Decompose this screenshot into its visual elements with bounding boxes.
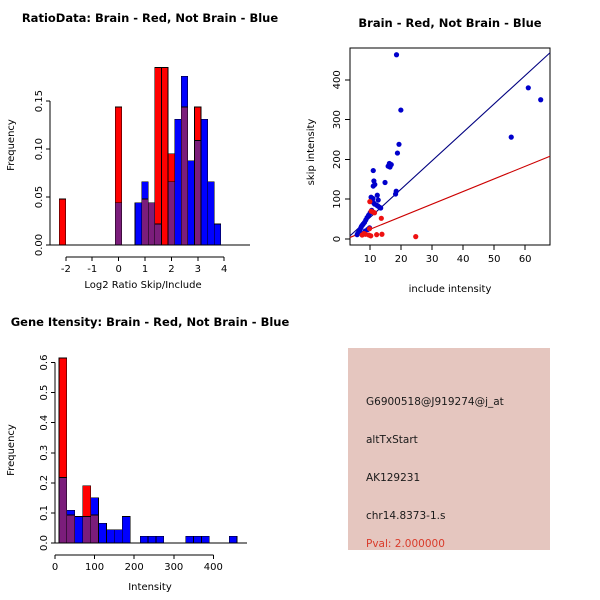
scatter-point	[395, 150, 400, 155]
intensity-scatter-ylabel: skip intensity	[306, 119, 317, 186]
gene-bar	[122, 517, 130, 543]
gene-bar	[75, 517, 83, 543]
info-probe-id: G6900518@J919274@j_at	[366, 396, 504, 408]
gene-bar	[186, 536, 194, 543]
gene-intensity-title: Gene Itensity: Brain - Red, Not Brain - …	[11, 315, 290, 329]
scatter-red-fit	[350, 156, 550, 237]
scatter-point	[382, 180, 387, 185]
gene-y-tick-label: 0.4	[39, 415, 50, 431]
info-accession: AK129231	[366, 472, 420, 484]
gene-x-tick-label: 300	[164, 562, 183, 573]
scatter-x-tick-label: 60	[519, 254, 532, 265]
ratio-bar-overlap	[181, 107, 188, 245]
scatter-point	[396, 142, 401, 147]
info-locus: chr14.8373-1.s	[366, 510, 445, 522]
scatter-point	[368, 233, 373, 238]
ratio-y-tick-label: 0.10	[34, 138, 45, 160]
scatter-point	[367, 199, 372, 204]
ratio-y-tick-label: 0.05	[34, 186, 45, 208]
scatter-y-tick-label: 100	[332, 190, 343, 209]
ratio-x-tick-label: 4	[221, 264, 227, 275]
scatter-point	[387, 164, 392, 169]
gene-bar	[201, 536, 209, 543]
scatter-plot-frame	[350, 48, 550, 245]
gene-bar	[106, 530, 114, 543]
scatter-y-tick-label: 300	[332, 110, 343, 129]
scatter-point	[375, 193, 380, 198]
info-pval: Pval: 2.000000	[366, 538, 445, 550]
scatter-point	[398, 107, 403, 112]
scatter-point	[371, 183, 376, 188]
gene-intensity-xlabel: Intensity	[128, 582, 172, 593]
scatter-point	[509, 135, 514, 140]
gene-bar	[229, 536, 237, 543]
scatter-x-tick-label: 50	[488, 254, 501, 265]
intensity-scatter-frame	[350, 48, 550, 245]
gene-bar-overlap	[67, 515, 75, 543]
ratio-bar	[201, 119, 208, 245]
scatter-y-tick-label: 200	[332, 150, 343, 169]
ratio-bar-overlap	[194, 140, 201, 245]
gene-bar-overlap	[83, 517, 91, 543]
ratio-y-tick-label: 0.15	[34, 90, 45, 112]
gene-intensity-panel: Gene Itensity: Brain - Red, Not Brain - …	[0, 300, 300, 600]
ratio-histogram-title: RatioData: Brain - Red, Not Brain - Blue	[22, 11, 279, 25]
ratio-bar	[175, 119, 182, 245]
scatter-point	[378, 205, 383, 210]
gene-y-tick-label: 0.2	[39, 475, 50, 491]
scatter-point	[379, 232, 384, 237]
gene-y-tick-label: 0.1	[39, 505, 50, 521]
gene-info-box: G6900518@J919274@j_at altTxStart AK12923…	[348, 348, 550, 550]
gene-bar-overlap	[91, 515, 99, 543]
ratio-bar	[208, 182, 215, 245]
scatter-x-tick-label: 30	[426, 254, 439, 265]
scatter-point	[361, 231, 366, 236]
ratio-x-tick-label: 0	[115, 264, 121, 275]
ratio-x-tick-label: -2	[61, 264, 71, 275]
gene-x-tick-label: 0	[52, 562, 58, 573]
ratio-bar-overlap	[155, 224, 162, 245]
gene-y-tick-label: 0.0	[39, 535, 50, 551]
gene-bar	[114, 530, 122, 543]
gene-bar	[148, 536, 156, 543]
ratio-histogram-xlabel: Log2 Ratio Skip/Include	[84, 280, 201, 291]
gene-x-tick-label: 100	[85, 562, 104, 573]
ratio-x-tick-label: -1	[87, 264, 97, 275]
scatter-point	[372, 210, 377, 215]
gene-bar	[140, 536, 148, 543]
gene-bar-overlap	[59, 477, 67, 543]
ratio-x-tick-label: 1	[142, 264, 148, 275]
scatter-point	[379, 216, 384, 221]
ratio-bar	[155, 68, 162, 245]
gene-x-tick-label: 400	[204, 562, 223, 573]
scatter-point	[538, 97, 543, 102]
gene-y-tick-label: 0.5	[39, 385, 50, 401]
ratio-x-tick-label: 3	[195, 264, 201, 275]
ratio-bar	[135, 203, 142, 245]
scatter-point	[376, 197, 381, 202]
scatter-point	[355, 232, 360, 237]
ratio-bar-overlap	[148, 203, 155, 245]
gene-bar	[99, 523, 107, 543]
gene-bar	[156, 536, 164, 543]
ratio-bar	[188, 161, 195, 245]
scatter-y-tick-label: 0	[332, 236, 343, 242]
ratio-bar	[214, 224, 221, 245]
ratio-histogram-svg: RatioData: Brain - Red, Not Brain - Blue…	[0, 0, 300, 300]
scatter-x-tick-label: 10	[364, 254, 377, 265]
scatter-y-tick-label: 400	[332, 70, 343, 89]
scatter-point	[413, 234, 418, 239]
intensity-scatter-panel: Brain - Red, Not Brain - Blue 0100200300…	[300, 0, 600, 300]
gene-y-tick-label: 0.6	[39, 355, 50, 371]
gene-bar	[194, 536, 202, 543]
gene-intensity-bars	[59, 358, 237, 543]
gene-intensity-ylabel: Frequency	[6, 424, 17, 476]
ratio-bar	[59, 199, 66, 245]
intensity-scatter-svg: Brain - Red, Not Brain - Blue 0100200300…	[300, 0, 600, 300]
gene-x-tick-label: 200	[125, 562, 144, 573]
ratio-bar-overlap	[142, 199, 149, 245]
ratio-bar-overlap	[168, 182, 175, 245]
scatter-x-tick-label: 40	[457, 254, 470, 265]
scatter-point	[367, 226, 372, 231]
intensity-scatter-xlabel: include intensity	[409, 284, 492, 295]
ratio-bar	[161, 68, 168, 245]
ratio-x-tick-label: 2	[168, 264, 174, 275]
scatter-point	[394, 52, 399, 57]
scatter-point	[374, 232, 379, 237]
gene-intensity-svg: Gene Itensity: Brain - Red, Not Brain - …	[0, 300, 300, 600]
gene-y-tick-label: 0.3	[39, 445, 50, 461]
ratio-y-tick-label: 0.00	[34, 234, 45, 256]
scatter-point	[371, 168, 376, 173]
ratio-histogram-ylabel: Frequency	[6, 119, 17, 171]
scatter-point	[526, 85, 531, 90]
scatter-x-tick-label: 20	[395, 254, 408, 265]
scatter-point	[393, 191, 398, 196]
intensity-scatter-title: Brain - Red, Not Brain - Blue	[358, 16, 541, 30]
ratio-histogram-bars	[59, 68, 221, 245]
ratio-histogram-panel: RatioData: Brain - Red, Not Brain - Blue…	[0, 0, 300, 300]
gene-info-panel: G6900518@J919274@j_at altTxStart AK12923…	[300, 300, 600, 600]
ratio-bar-overlap	[115, 203, 122, 245]
info-event-type: altTxStart	[366, 434, 418, 446]
